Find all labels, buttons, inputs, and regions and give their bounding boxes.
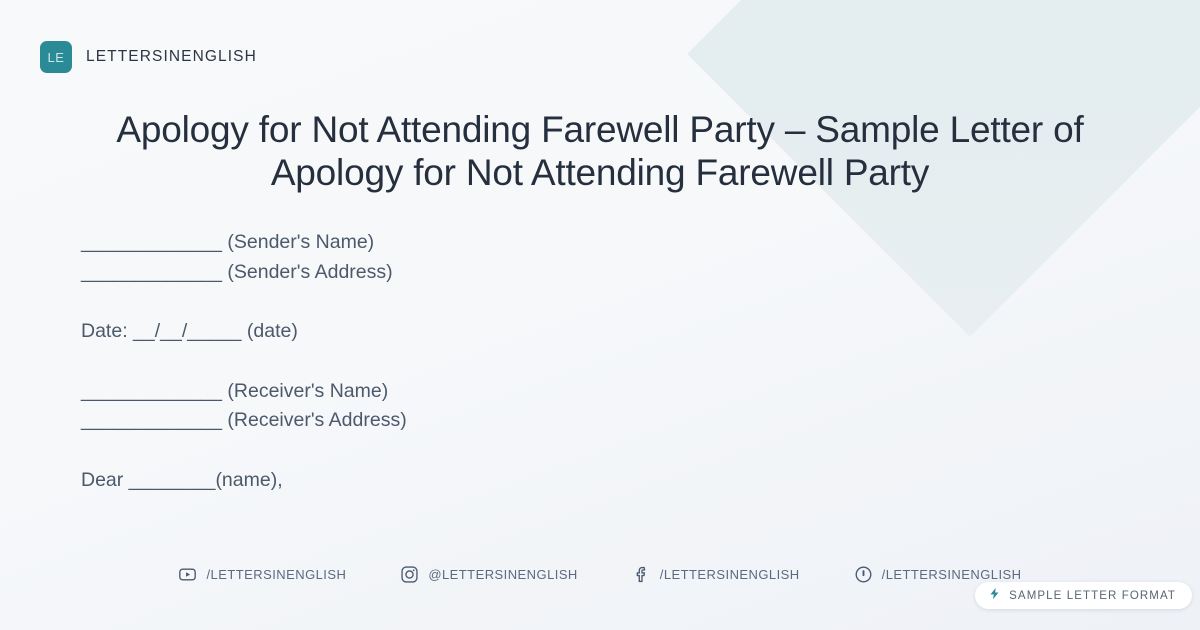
social-label-youtube: /LETTERSINENGLISH	[206, 567, 346, 582]
date-block: Date: __/__/_____ (date)	[81, 317, 407, 347]
receiver-block: _____________ (Receiver's Name) ________…	[81, 377, 407, 436]
youtube-icon	[178, 565, 197, 584]
spacer	[81, 347, 407, 377]
receiver-address-line: _____________ (Receiver's Address)	[81, 406, 407, 436]
social-label-facebook: /LETTERSINENGLISH	[660, 567, 800, 582]
brand-name-label: LETTERSINENGLISH	[86, 48, 257, 66]
pinterest-icon	[854, 565, 873, 584]
sender-name-line: _____________ (Sender's Name)	[81, 228, 407, 258]
social-label-pinterest: /LETTERSINENGLISH	[882, 567, 1022, 582]
date-line: Date: __/__/_____ (date)	[81, 317, 407, 347]
spacer	[81, 436, 407, 466]
social-link-instagram[interactable]: @LETTERSINENGLISH	[400, 565, 577, 584]
sender-address-line: _____________ (Sender's Address)	[81, 258, 407, 288]
salutation-line: Dear ________(name),	[81, 466, 407, 496]
badge-label: SAMPLE LETTER FORMAT	[1009, 590, 1176, 602]
poster-canvas: LE LETTERSINENGLISH Apology for Not Atte…	[0, 0, 1200, 630]
instagram-icon	[400, 565, 419, 584]
sample-letter-format-badge[interactable]: SAMPLE LETTER FORMAT	[975, 582, 1192, 609]
salutation-block: Dear ________(name),	[81, 466, 407, 496]
brand-mark-icon: LE	[40, 41, 72, 73]
social-link-facebook[interactable]: /LETTERSINENGLISH	[632, 565, 800, 584]
facebook-icon	[632, 565, 651, 584]
social-link-youtube[interactable]: /LETTERSINENGLISH	[178, 565, 346, 584]
brand-logo[interactable]: LE LETTERSINENGLISH	[40, 41, 257, 73]
spacer	[81, 287, 407, 317]
social-label-instagram: @LETTERSINENGLISH	[428, 567, 577, 582]
sender-block: _____________ (Sender's Name) __________…	[81, 228, 407, 287]
receiver-name-line: _____________ (Receiver's Name)	[81, 377, 407, 407]
letter-body: _____________ (Sender's Name) __________…	[81, 228, 407, 495]
lightning-bolt-icon	[988, 586, 1001, 606]
page-title: Apology for Not Attending Farewell Party…	[60, 108, 1140, 194]
